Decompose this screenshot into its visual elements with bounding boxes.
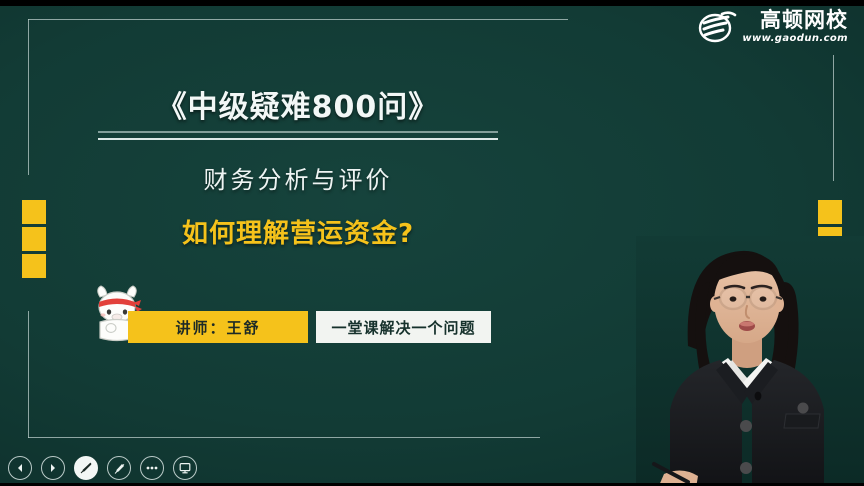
more-options-button[interactable] xyxy=(140,456,164,480)
yellow-square xyxy=(818,200,842,224)
video-player-stage: 高顿网校 www.gaodun.com 《中级疑难800问》 财务分析与评价 如… xyxy=(0,0,864,486)
yellow-marker-left xyxy=(22,200,46,278)
yellow-square xyxy=(22,200,46,224)
tagline-tag: 一堂课解决一个问题 xyxy=(316,311,491,343)
pen-tool-button[interactable] xyxy=(74,456,98,480)
presentation-view-button[interactable] xyxy=(173,456,197,480)
frame-line-bottom xyxy=(28,437,540,438)
player-toolbar[interactable] xyxy=(8,456,197,480)
next-slide-button[interactable] xyxy=(41,456,65,480)
logo-wordmark: 高顿网校 xyxy=(760,10,848,31)
instructor-name-tag: 讲师：王舒 xyxy=(128,311,308,343)
frame-line-top xyxy=(28,19,568,20)
slide-main-title: 《中级疑难800问》 xyxy=(98,82,498,126)
brand-logo: 高顿网校 www.gaodun.com xyxy=(698,10,848,44)
letterbox-top xyxy=(0,0,864,6)
yellow-square xyxy=(22,227,46,251)
slide-subtitle: 财务分析与评价 xyxy=(98,160,498,195)
previous-slide-button[interactable] xyxy=(8,456,32,480)
pointer-tool-button[interactable] xyxy=(107,456,131,480)
slide-question: 如何理解营运资金? xyxy=(98,213,498,250)
logo-url: www.gaodun.com xyxy=(742,34,848,44)
instructor-banner: 讲师：王舒 一堂课解决一个问题 xyxy=(128,311,491,343)
title-divider-lower xyxy=(98,138,498,140)
frame-line-left-lower xyxy=(28,311,29,438)
gaodun-swoosh-icon xyxy=(698,10,738,44)
title-divider-upper xyxy=(98,131,498,133)
frame-line-right xyxy=(833,55,834,181)
presenter-video xyxy=(636,236,864,486)
yellow-square xyxy=(22,254,46,278)
frame-line-left-upper xyxy=(28,19,29,175)
